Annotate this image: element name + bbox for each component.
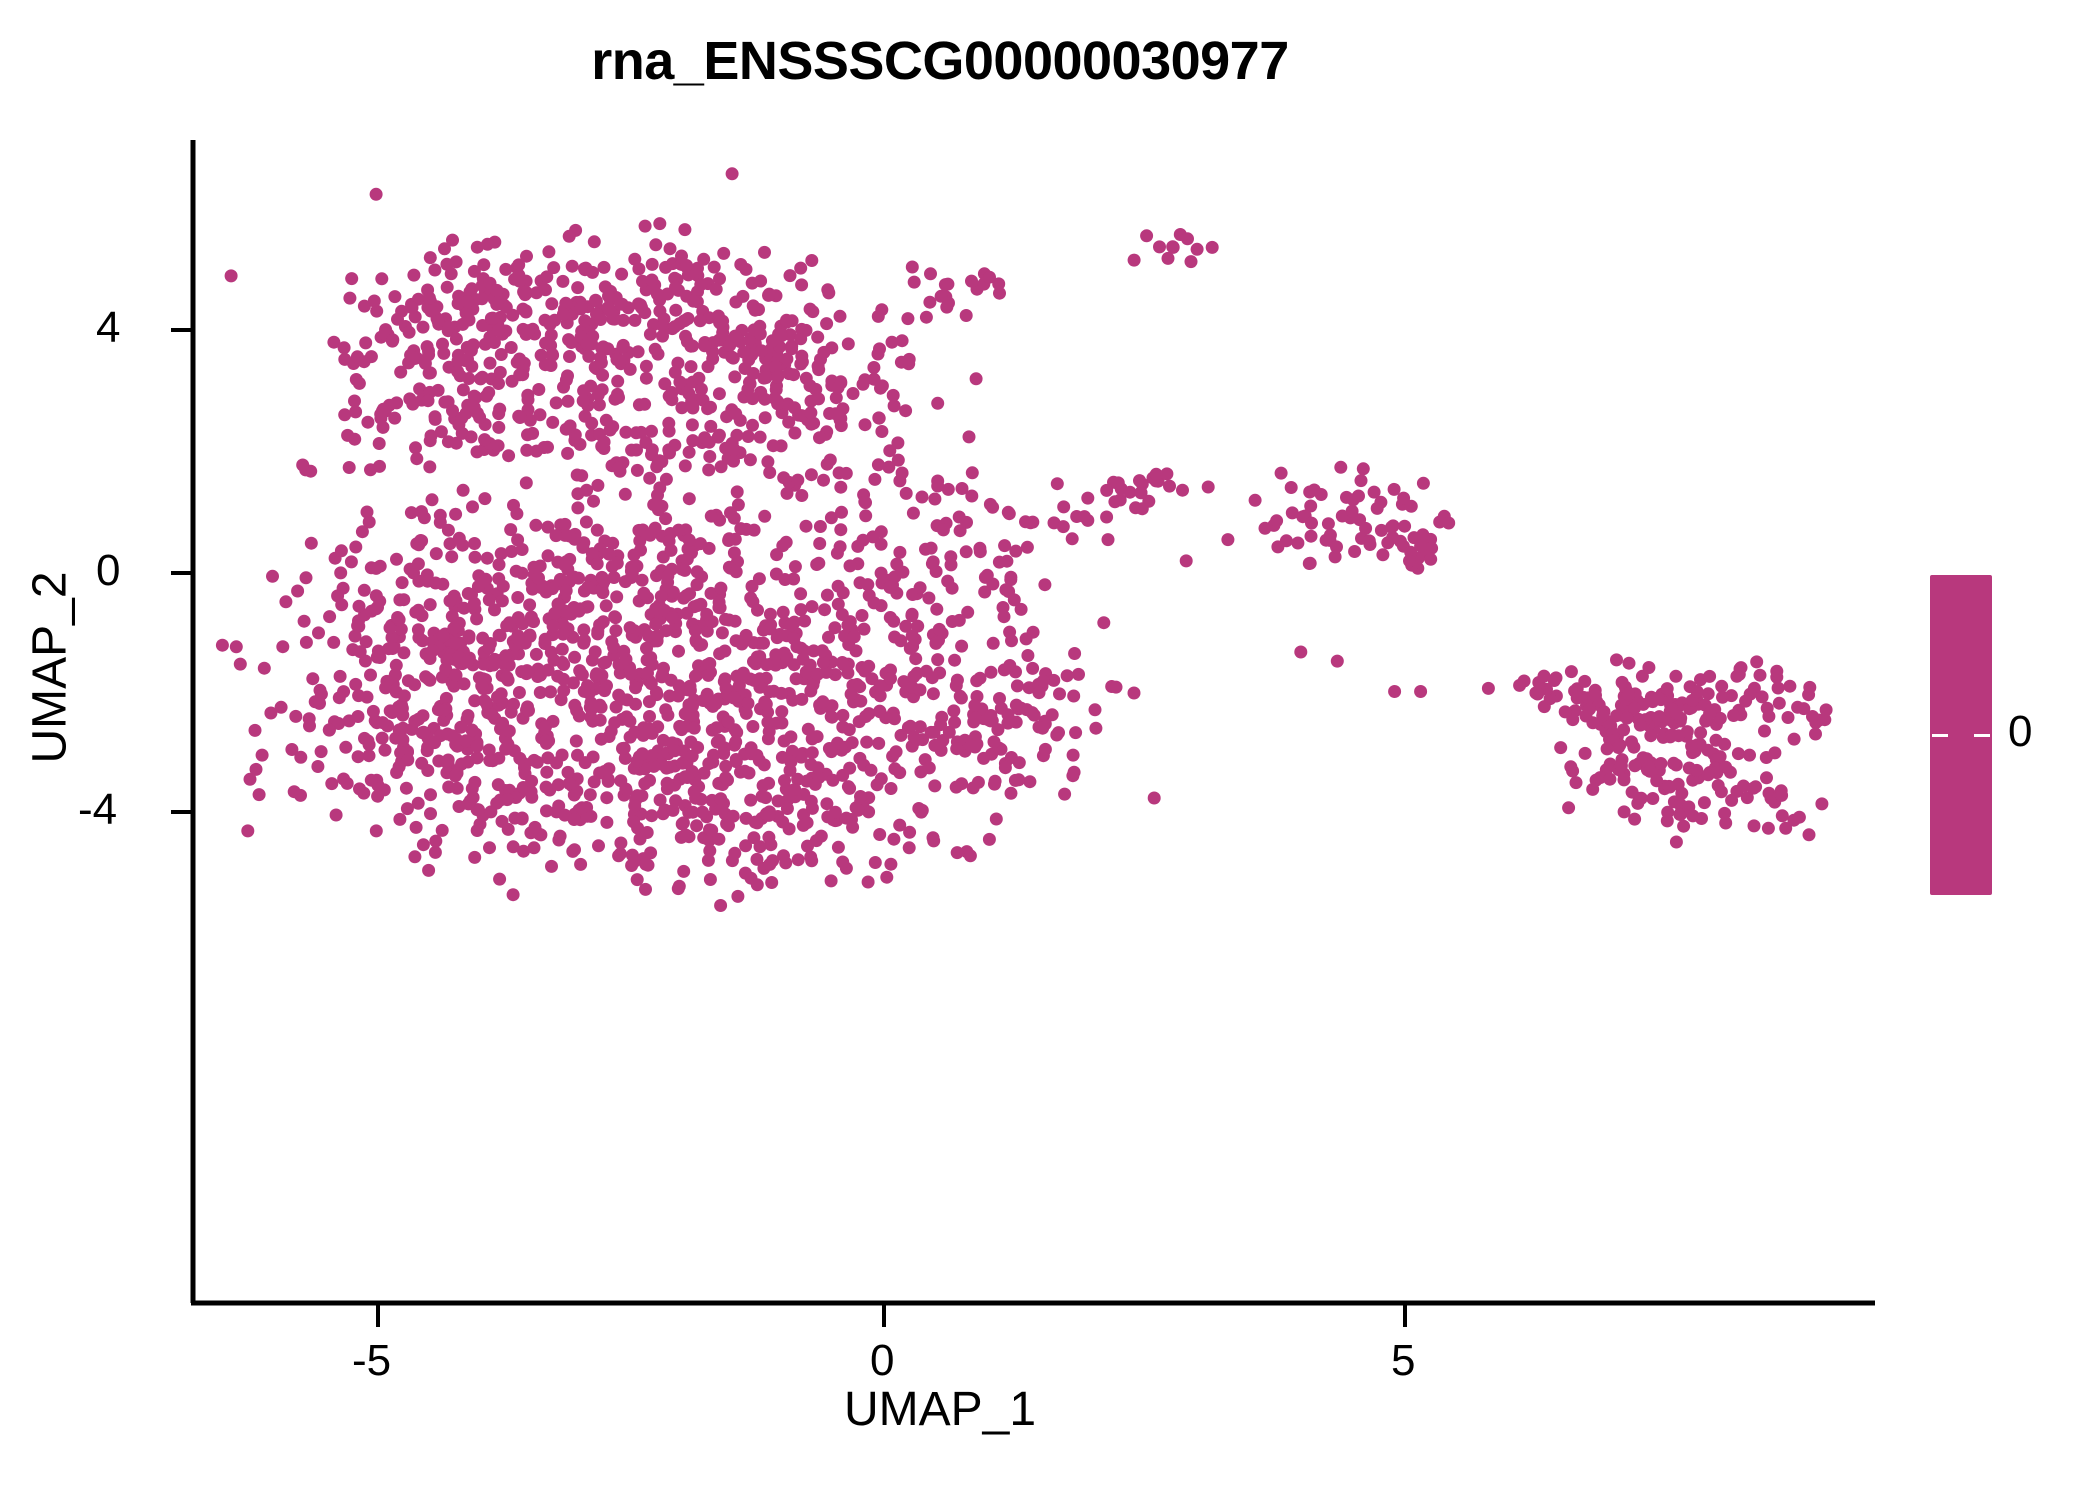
y-tick-label-0: 0 <box>96 546 120 596</box>
y-axis-title: UMAP_2 <box>23 418 78 918</box>
colorbar-tick-left <box>1932 734 1948 737</box>
plot-panel: 4 0 -4 -5 0 5 UMAP_1 UMAP_2 <box>0 0 1900 1460</box>
x-axis-title: UMAP_1 <box>0 1382 1880 1437</box>
y-axis-ticks <box>171 330 193 812</box>
chart-root: rna_ENSSSCG00000030977 4 0 -4 <box>0 0 2100 1500</box>
x-tick-label-neg5: -5 <box>352 1336 391 1386</box>
y-tick-label-neg4: -4 <box>78 785 117 835</box>
x-axis-ticks <box>378 1303 1405 1327</box>
colorbar-tick-right <box>1974 734 1990 737</box>
colorbar-legend: 0 <box>1930 575 2080 905</box>
y-tick-label-4: 4 <box>96 303 120 353</box>
x-tick-label-5: 5 <box>1391 1336 1415 1386</box>
data-points-layer <box>216 167 1833 912</box>
scatter-plot-svg <box>0 0 1900 1460</box>
colorbar-tick-label-0: 0 <box>2008 707 2032 757</box>
x-tick-label-0: 0 <box>870 1336 894 1386</box>
